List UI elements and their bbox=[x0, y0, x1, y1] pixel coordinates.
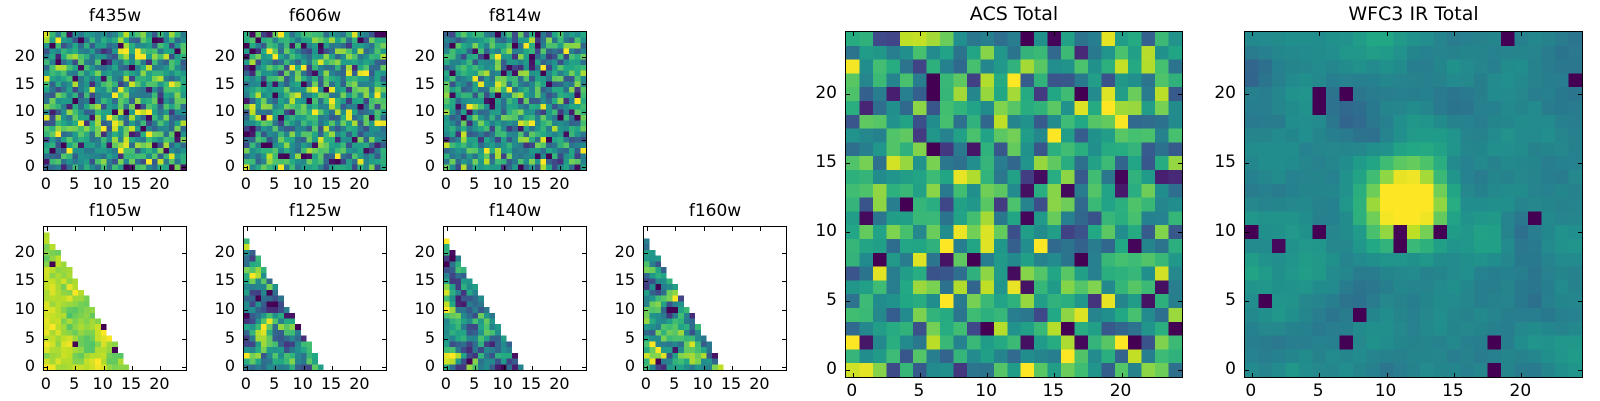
y-tick-mark bbox=[44, 140, 48, 141]
y-tick-mark bbox=[846, 163, 850, 164]
y-tick-mark bbox=[382, 112, 386, 113]
y-tick-mark bbox=[444, 339, 448, 340]
x-tick-mark bbox=[132, 366, 133, 370]
y-tick-label: 15 bbox=[0, 74, 35, 93]
x-tick-mark bbox=[1252, 373, 1253, 377]
y-tick-mark bbox=[582, 281, 586, 282]
x-tick-mark bbox=[504, 227, 505, 231]
y-tick-label: 10 bbox=[187, 101, 235, 120]
y-tick-mark bbox=[182, 140, 186, 141]
x-tick-mark bbox=[247, 227, 248, 231]
heatmap-image-f435w bbox=[44, 32, 186, 170]
axes-f140w bbox=[443, 226, 587, 371]
x-tick-mark bbox=[560, 227, 561, 231]
y-tick-mark bbox=[382, 339, 386, 340]
panel-title-f814w: f814w bbox=[443, 6, 587, 26]
y-tick-mark bbox=[644, 281, 648, 282]
x-tick-mark bbox=[104, 32, 105, 36]
y-tick-label: 10 bbox=[0, 101, 35, 120]
y-tick-mark bbox=[1578, 94, 1582, 95]
y-tick-label: 5 bbox=[1188, 290, 1236, 310]
y-tick-mark bbox=[1578, 232, 1582, 233]
x-tick-mark bbox=[1387, 373, 1388, 377]
y-tick-mark bbox=[644, 367, 648, 368]
y-tick-label: 5 bbox=[187, 129, 235, 148]
y-tick-mark bbox=[582, 112, 586, 113]
y-tick-mark bbox=[1578, 301, 1582, 302]
panel-title-f606w: f606w bbox=[243, 6, 387, 26]
panel-f160w: 0510152005101520f160w bbox=[643, 226, 787, 371]
y-tick-mark bbox=[582, 339, 586, 340]
y-tick-mark bbox=[382, 167, 386, 168]
x-tick-mark bbox=[332, 166, 333, 170]
x-tick-mark bbox=[1454, 373, 1455, 377]
x-tick-mark bbox=[275, 32, 276, 36]
x-tick-mark bbox=[987, 373, 988, 377]
panel-f125w: 0510152005101520f125w bbox=[243, 226, 387, 371]
y-tick-mark bbox=[444, 367, 448, 368]
y-tick-label: 10 bbox=[587, 299, 635, 318]
x-tick-mark bbox=[75, 366, 76, 370]
x-tick-mark bbox=[360, 166, 361, 170]
x-tick-mark bbox=[560, 366, 561, 370]
x-tick-mark bbox=[1521, 373, 1522, 377]
panel-acs-total: 0510152005101520ACS Total bbox=[845, 31, 1183, 378]
x-tick-label: 20 bbox=[334, 374, 384, 393]
x-tick-mark bbox=[275, 366, 276, 370]
y-tick-mark bbox=[1178, 163, 1182, 164]
x-tick-mark bbox=[920, 32, 921, 36]
y-tick-mark bbox=[244, 84, 248, 85]
axes-f160w bbox=[643, 226, 787, 371]
y-tick-label: 0 bbox=[587, 356, 635, 375]
y-tick-mark bbox=[1245, 232, 1249, 233]
x-tick-label: 20 bbox=[534, 174, 584, 193]
x-tick-mark bbox=[760, 227, 761, 231]
x-tick-mark bbox=[160, 166, 161, 170]
y-tick-label: 5 bbox=[387, 129, 435, 148]
y-tick-label: 15 bbox=[187, 74, 235, 93]
x-tick-mark bbox=[332, 32, 333, 36]
y-tick-label: 0 bbox=[187, 156, 235, 175]
y-tick-mark bbox=[44, 167, 48, 168]
y-tick-label: 10 bbox=[187, 299, 235, 318]
y-tick-mark bbox=[444, 140, 448, 141]
y-tick-mark bbox=[1245, 94, 1249, 95]
y-tick-mark bbox=[582, 310, 586, 311]
x-tick-mark bbox=[532, 366, 533, 370]
x-tick-mark bbox=[47, 227, 48, 231]
y-tick-mark bbox=[44, 84, 48, 85]
y-tick-label: 10 bbox=[387, 101, 435, 120]
y-tick-mark bbox=[182, 112, 186, 113]
y-tick-mark bbox=[1178, 232, 1182, 233]
y-tick-mark bbox=[1578, 370, 1582, 371]
y-tick-label: 5 bbox=[789, 290, 837, 310]
y-tick-label: 0 bbox=[1188, 359, 1236, 379]
y-tick-mark bbox=[782, 310, 786, 311]
x-tick-mark bbox=[675, 227, 676, 231]
x-tick-label: 20 bbox=[734, 374, 784, 393]
y-tick-mark bbox=[1245, 301, 1249, 302]
axes-f814w bbox=[443, 31, 587, 171]
y-tick-mark bbox=[244, 281, 248, 282]
y-tick-mark bbox=[44, 112, 48, 113]
y-tick-mark bbox=[244, 167, 248, 168]
y-tick-mark bbox=[444, 57, 448, 58]
y-tick-label: 15 bbox=[387, 270, 435, 289]
y-tick-mark bbox=[1178, 94, 1182, 95]
x-tick-mark bbox=[104, 366, 105, 370]
y-tick-mark bbox=[1245, 370, 1249, 371]
x-tick-mark bbox=[304, 227, 305, 231]
x-tick-label: 20 bbox=[1495, 381, 1545, 401]
x-tick-label: 0 bbox=[1226, 381, 1276, 401]
y-tick-label: 10 bbox=[1188, 221, 1236, 241]
panel-title-f105w: f105w bbox=[43, 201, 187, 221]
x-tick-mark bbox=[704, 366, 705, 370]
y-tick-mark bbox=[382, 140, 386, 141]
x-tick-mark bbox=[475, 166, 476, 170]
panel-title-f140w: f140w bbox=[443, 201, 587, 221]
x-tick-label: 20 bbox=[334, 174, 384, 193]
x-tick-mark bbox=[75, 227, 76, 231]
x-tick-mark bbox=[1054, 373, 1055, 377]
y-tick-mark bbox=[1178, 301, 1182, 302]
x-tick-mark bbox=[647, 227, 648, 231]
heatmap-image-f606w bbox=[244, 32, 386, 170]
axes-f125w bbox=[243, 226, 387, 371]
y-tick-label: 15 bbox=[789, 152, 837, 172]
y-tick-mark bbox=[846, 370, 850, 371]
y-tick-label: 20 bbox=[187, 242, 235, 261]
x-tick-mark bbox=[1054, 32, 1055, 36]
panel-f814w: 0510152005101520f814w bbox=[443, 31, 587, 171]
y-tick-mark bbox=[582, 367, 586, 368]
panel-title-acs-total: ACS Total bbox=[845, 3, 1183, 25]
y-tick-label: 0 bbox=[0, 356, 35, 375]
y-tick-label: 15 bbox=[0, 270, 35, 289]
y-tick-mark bbox=[182, 253, 186, 254]
x-tick-mark bbox=[1319, 32, 1320, 36]
heatmap-image-f125w bbox=[244, 227, 386, 370]
y-tick-mark bbox=[444, 253, 448, 254]
y-tick-label: 20 bbox=[187, 46, 235, 65]
x-tick-mark bbox=[75, 32, 76, 36]
x-tick-mark bbox=[1122, 32, 1123, 36]
x-tick-mark bbox=[332, 366, 333, 370]
panel-title-wfc3-ir-total: WFC3 IR Total bbox=[1244, 3, 1583, 25]
panel-f105w: 0510152005101520f105w bbox=[43, 226, 187, 371]
x-tick-mark bbox=[532, 166, 533, 170]
x-tick-mark bbox=[360, 366, 361, 370]
y-tick-label: 20 bbox=[0, 242, 35, 261]
y-tick-mark bbox=[782, 367, 786, 368]
y-tick-mark bbox=[244, 310, 248, 311]
y-tick-label: 0 bbox=[387, 356, 435, 375]
y-tick-label: 0 bbox=[0, 156, 35, 175]
x-tick-mark bbox=[104, 227, 105, 231]
axes-wfc3-ir-total bbox=[1244, 31, 1583, 378]
x-tick-label: 20 bbox=[534, 374, 584, 393]
y-tick-mark bbox=[44, 281, 48, 282]
heatmap-image-acs-total bbox=[846, 32, 1182, 377]
heatmap-image-f140w bbox=[444, 227, 586, 370]
heatmap-image-wfc3-ir-total bbox=[1245, 32, 1582, 377]
y-tick-mark bbox=[582, 84, 586, 85]
heatmap-image-f105w bbox=[44, 227, 186, 370]
x-tick-mark bbox=[1454, 32, 1455, 36]
y-tick-mark bbox=[244, 367, 248, 368]
y-tick-mark bbox=[582, 57, 586, 58]
x-tick-mark bbox=[475, 32, 476, 36]
y-tick-mark bbox=[1245, 163, 1249, 164]
y-tick-label: 20 bbox=[1188, 83, 1236, 103]
x-tick-mark bbox=[853, 32, 854, 36]
y-tick-mark bbox=[182, 281, 186, 282]
figure-canvas: 0510152005101520f435w0510152005101520f60… bbox=[0, 0, 1600, 400]
x-tick-mark bbox=[560, 32, 561, 36]
x-tick-label: 15 bbox=[1428, 381, 1478, 401]
x-tick-label: 20 bbox=[1096, 381, 1146, 401]
x-tick-mark bbox=[532, 227, 533, 231]
x-tick-mark bbox=[332, 227, 333, 231]
y-tick-mark bbox=[44, 310, 48, 311]
x-tick-mark bbox=[560, 166, 561, 170]
y-tick-mark bbox=[582, 253, 586, 254]
y-tick-mark bbox=[1178, 370, 1182, 371]
y-tick-mark bbox=[44, 57, 48, 58]
y-tick-mark bbox=[44, 253, 48, 254]
panel-f140w: 0510152005101520f140w bbox=[443, 226, 587, 371]
y-tick-mark bbox=[782, 339, 786, 340]
y-tick-label: 5 bbox=[0, 129, 35, 148]
panel-f606w: 0510152005101520f606w bbox=[243, 31, 387, 171]
x-tick-mark bbox=[1252, 32, 1253, 36]
x-tick-mark bbox=[304, 32, 305, 36]
x-tick-mark bbox=[704, 227, 705, 231]
x-tick-label: 20 bbox=[134, 374, 184, 393]
x-tick-mark bbox=[987, 32, 988, 36]
y-tick-mark bbox=[644, 253, 648, 254]
y-tick-mark bbox=[846, 301, 850, 302]
y-tick-label: 10 bbox=[387, 299, 435, 318]
y-tick-mark bbox=[382, 281, 386, 282]
panel-f435w: 0510152005101520f435w bbox=[43, 31, 187, 171]
y-tick-mark bbox=[182, 84, 186, 85]
y-tick-mark bbox=[644, 339, 648, 340]
x-tick-label: 10 bbox=[1361, 381, 1411, 401]
y-tick-mark bbox=[582, 140, 586, 141]
x-tick-mark bbox=[447, 32, 448, 36]
x-tick-mark bbox=[160, 32, 161, 36]
y-tick-label: 5 bbox=[387, 328, 435, 347]
x-tick-mark bbox=[132, 227, 133, 231]
y-tick-mark bbox=[382, 367, 386, 368]
axes-f105w bbox=[43, 226, 187, 371]
x-tick-label: 5 bbox=[894, 381, 944, 401]
x-tick-label: 0 bbox=[827, 381, 877, 401]
y-tick-mark bbox=[782, 281, 786, 282]
axes-f435w bbox=[43, 31, 187, 171]
heatmap-image-f160w bbox=[644, 227, 786, 370]
x-tick-mark bbox=[760, 366, 761, 370]
x-tick-mark bbox=[1387, 32, 1388, 36]
y-tick-mark bbox=[182, 57, 186, 58]
y-tick-label: 5 bbox=[0, 328, 35, 347]
y-tick-label: 20 bbox=[387, 46, 435, 65]
x-tick-mark bbox=[360, 227, 361, 231]
y-tick-label: 20 bbox=[0, 46, 35, 65]
x-tick-label: 20 bbox=[134, 174, 184, 193]
x-tick-mark bbox=[853, 373, 854, 377]
y-tick-label: 0 bbox=[789, 359, 837, 379]
y-tick-mark bbox=[244, 112, 248, 113]
x-tick-mark bbox=[160, 227, 161, 231]
y-tick-label: 0 bbox=[387, 156, 435, 175]
x-tick-mark bbox=[304, 166, 305, 170]
y-tick-label: 15 bbox=[1188, 152, 1236, 172]
x-tick-mark bbox=[504, 366, 505, 370]
x-tick-mark bbox=[532, 32, 533, 36]
x-tick-mark bbox=[675, 366, 676, 370]
x-tick-mark bbox=[275, 227, 276, 231]
y-tick-mark bbox=[846, 94, 850, 95]
x-tick-mark bbox=[104, 166, 105, 170]
y-tick-label: 15 bbox=[187, 270, 235, 289]
x-tick-mark bbox=[47, 32, 48, 36]
y-tick-mark bbox=[182, 339, 186, 340]
y-tick-mark bbox=[444, 281, 448, 282]
y-tick-mark bbox=[644, 310, 648, 311]
y-tick-mark bbox=[382, 253, 386, 254]
y-tick-label: 15 bbox=[387, 74, 435, 93]
x-tick-mark bbox=[920, 373, 921, 377]
axes-f606w bbox=[243, 31, 387, 171]
y-tick-label: 15 bbox=[587, 270, 635, 289]
x-tick-mark bbox=[275, 166, 276, 170]
x-tick-mark bbox=[1319, 373, 1320, 377]
x-tick-mark bbox=[475, 227, 476, 231]
x-tick-mark bbox=[132, 166, 133, 170]
axes-acs-total bbox=[845, 31, 1183, 378]
y-tick-mark bbox=[382, 57, 386, 58]
y-tick-label: 5 bbox=[187, 328, 235, 347]
x-tick-mark bbox=[1122, 373, 1123, 377]
y-tick-mark bbox=[444, 310, 448, 311]
y-tick-mark bbox=[782, 253, 786, 254]
y-tick-mark bbox=[444, 167, 448, 168]
y-tick-mark bbox=[1578, 163, 1582, 164]
y-tick-mark bbox=[382, 84, 386, 85]
x-tick-mark bbox=[132, 32, 133, 36]
heatmap-image-f814w bbox=[444, 32, 586, 170]
x-tick-mark bbox=[732, 366, 733, 370]
y-tick-mark bbox=[244, 253, 248, 254]
y-tick-mark bbox=[182, 167, 186, 168]
panel-title-f125w: f125w bbox=[243, 201, 387, 221]
y-tick-mark bbox=[44, 367, 48, 368]
x-tick-label: 5 bbox=[1293, 381, 1343, 401]
panel-title-f435w: f435w bbox=[43, 6, 187, 26]
x-tick-label: 15 bbox=[1028, 381, 1078, 401]
y-tick-label: 0 bbox=[187, 356, 235, 375]
x-tick-mark bbox=[75, 166, 76, 170]
x-tick-label: 10 bbox=[961, 381, 1011, 401]
x-tick-mark bbox=[247, 32, 248, 36]
y-tick-mark bbox=[182, 310, 186, 311]
x-tick-mark bbox=[360, 32, 361, 36]
panel-title-f160w: f160w bbox=[643, 201, 787, 221]
y-tick-mark bbox=[444, 84, 448, 85]
y-tick-label: 10 bbox=[0, 299, 35, 318]
y-tick-mark bbox=[182, 367, 186, 368]
x-tick-mark bbox=[160, 366, 161, 370]
y-tick-mark bbox=[382, 310, 386, 311]
y-tick-label: 5 bbox=[587, 328, 635, 347]
y-tick-label: 10 bbox=[789, 221, 837, 241]
y-tick-mark bbox=[846, 232, 850, 233]
x-tick-mark bbox=[1521, 32, 1522, 36]
panel-wfc3-ir-total: 0510152005101520WFC3 IR Total bbox=[1244, 31, 1583, 378]
y-tick-mark bbox=[44, 339, 48, 340]
x-tick-mark bbox=[504, 32, 505, 36]
x-tick-mark bbox=[732, 227, 733, 231]
x-tick-mark bbox=[304, 366, 305, 370]
x-tick-mark bbox=[447, 227, 448, 231]
y-tick-mark bbox=[244, 57, 248, 58]
y-tick-mark bbox=[244, 140, 248, 141]
x-tick-mark bbox=[475, 366, 476, 370]
y-tick-label: 20 bbox=[587, 242, 635, 261]
y-tick-mark bbox=[244, 339, 248, 340]
y-tick-mark bbox=[582, 167, 586, 168]
y-tick-label: 20 bbox=[387, 242, 435, 261]
y-tick-label: 20 bbox=[789, 83, 837, 103]
y-tick-mark bbox=[444, 112, 448, 113]
x-tick-mark bbox=[504, 166, 505, 170]
